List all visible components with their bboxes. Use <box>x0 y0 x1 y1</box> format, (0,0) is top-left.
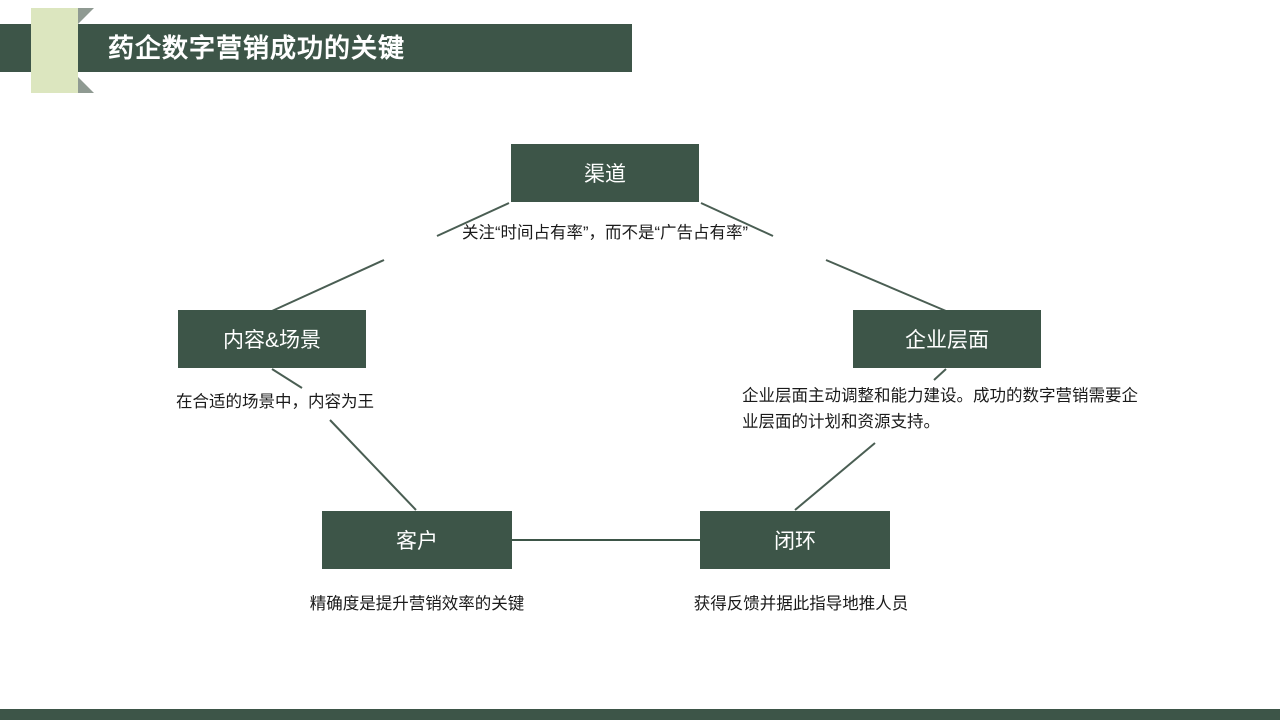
footer-bar <box>0 709 1280 720</box>
node-customer[interactable]: 客户 <box>322 511 512 569</box>
node-closedloop[interactable]: 闭环 <box>700 511 890 569</box>
pentagon-diagram: 渠道 内容&场景 企业层面 客户 闭环 关注“时间占有率”，而不是“广告占有率”… <box>0 0 1280 720</box>
connector-enterprise-closedloop-upper <box>934 369 946 380</box>
node-customer-label: 客户 <box>396 525 438 555</box>
node-channel[interactable]: 渠道 <box>511 144 699 202</box>
caption-channel: 关注“时间占有率”，而不是“广告占有率” <box>415 220 795 246</box>
caption-closedloop: 获得反馈并据此指导地推人员 <box>640 591 962 617</box>
connector-enterprise-closedloop-lower <box>795 443 875 510</box>
connector-channel-content-lower <box>272 260 384 311</box>
node-channel-label: 渠道 <box>584 158 626 188</box>
node-content-label: 内容&场景 <box>223 324 321 354</box>
node-enterprise-label: 企业层面 <box>905 324 989 354</box>
node-enterprise[interactable]: 企业层面 <box>853 310 1041 368</box>
caption-customer: 精确度是提升营销效率的关键 <box>256 591 578 617</box>
node-closedloop-label: 闭环 <box>774 525 816 555</box>
connector-content-customer-upper <box>272 369 302 388</box>
caption-enterprise: 企业层面主动调整和能力建设。成功的数字营销需要企业层面的计划和资源支持。 <box>742 383 1150 435</box>
node-content[interactable]: 内容&场景 <box>178 310 366 368</box>
connector-channel-enterprise-lower <box>826 260 946 311</box>
connector-content-customer-lower <box>330 420 416 510</box>
caption-content: 在合适的场景中，内容为王 <box>110 389 440 415</box>
